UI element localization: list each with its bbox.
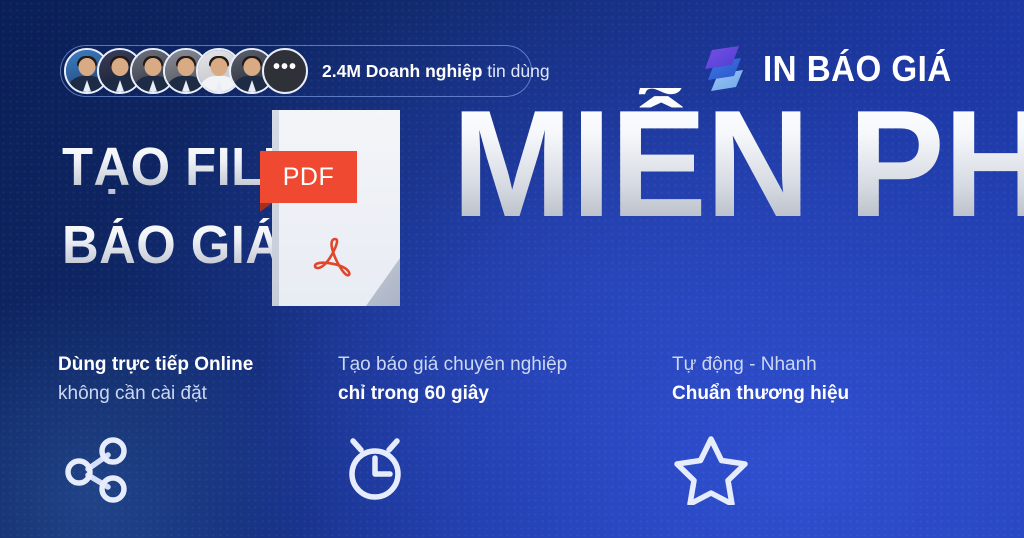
pdf-ribbon-label: PDF xyxy=(283,163,335,192)
ellipsis-icon: ••• xyxy=(273,62,297,72)
pdf-document-graphic: PDF xyxy=(272,110,400,306)
avatar-overflow-indicator: ••• xyxy=(262,48,308,94)
feature-line-2: Chuẩn thương hiệu xyxy=(672,379,972,408)
headline-line-1: TẠO FILE xyxy=(62,140,278,194)
promo-banner: ••• 2.4M Doanh nghiệp tin dùng xyxy=(0,0,1024,538)
feature-list: Dùng trực tiếp Online không cần cài đặt … xyxy=(0,350,1024,505)
feature-line-1: Tự động - Nhanh xyxy=(672,350,972,379)
alarm-clock-icon xyxy=(338,431,648,505)
feature-item: Tự động - Nhanh Chuẩn thương hiệu xyxy=(672,350,972,505)
pdf-page-spine xyxy=(272,110,279,306)
social-proof-count: 2.4M Doanh nghiệp xyxy=(322,61,482,81)
pdf-ribbon: PDF xyxy=(260,151,357,203)
feature-item: Tạo báo giá chuyên nghiệp chỉ trong 60 g… xyxy=(338,350,648,505)
social-proof-suffix: tin dùng xyxy=(482,61,549,81)
feature-line-2: không cần cài đặt xyxy=(58,379,348,408)
headline-free: MIỄN PHÍ xyxy=(452,88,1024,240)
feature-line-1: Dùng trực tiếp Online xyxy=(58,350,348,379)
acrobat-a-icon xyxy=(304,226,368,290)
headline-line-2: BÁO GIÁ xyxy=(62,218,278,272)
avatar-group: ••• xyxy=(64,48,308,94)
star-icon xyxy=(672,431,972,505)
feature-line-2: chỉ trong 60 giây xyxy=(338,379,648,408)
feature-item: Dùng trực tiếp Online không cần cài đặt xyxy=(58,350,348,505)
share-nodes-icon xyxy=(58,431,348,505)
feature-line-1: Tạo báo giá chuyên nghiệp xyxy=(338,350,648,379)
headline-left: TẠO FILE BÁO GIÁ xyxy=(62,140,292,272)
